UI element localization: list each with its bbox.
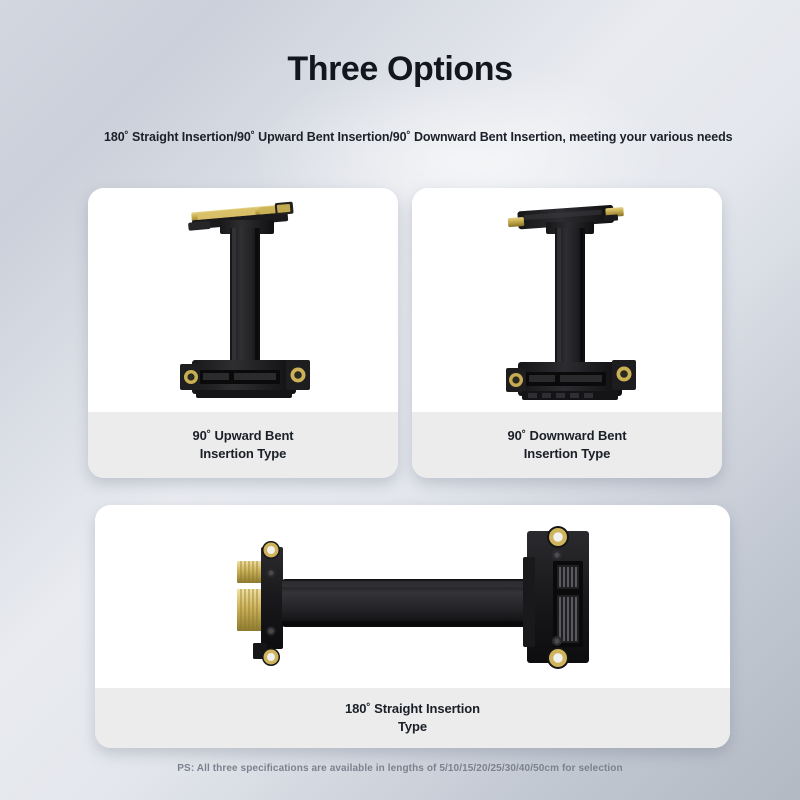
footer-note: PS: All three specifications are availab… xyxy=(0,763,800,774)
caption-line-1: 180˚ Straight Insertion xyxy=(345,701,480,716)
product-photo-straight xyxy=(95,505,730,688)
page-subtitle: 180˚ Straight Insertion/90˚ Upward Bent … xyxy=(104,130,800,144)
product-photo-downward-bent xyxy=(412,188,722,412)
option-card-downward-bent[interactable]: 90˚ Downward Bent Insertion Type xyxy=(412,188,722,478)
caption-line-2: Insertion Type xyxy=(524,446,610,461)
card-caption-downward-bent: 90˚ Downward Bent Insertion Type xyxy=(412,412,722,478)
option-card-upward-bent[interactable]: 90˚ Upward Bent Insertion Type xyxy=(88,188,398,478)
caption-line-1: 90˚ Upward Bent xyxy=(192,428,293,443)
card-caption-upward-bent: 90˚ Upward Bent Insertion Type xyxy=(88,412,398,478)
pcie-riser-straight-illustration xyxy=(227,517,599,677)
card-caption-straight: 180˚ Straight Insertion Type xyxy=(95,688,730,748)
page-title: Three Options xyxy=(0,50,800,89)
option-card-straight[interactable]: 180˚ Straight Insertion Type xyxy=(95,505,730,748)
caption-line-2: Type xyxy=(398,719,427,734)
pcie-riser-upward-bent-illustration xyxy=(168,194,318,412)
product-photo-upward-bent xyxy=(88,188,398,412)
pcie-riser-downward-bent-illustration xyxy=(492,194,642,412)
caption-line-2: Insertion Type xyxy=(200,446,286,461)
caption-line-1: 90˚ Downward Bent xyxy=(508,428,627,443)
